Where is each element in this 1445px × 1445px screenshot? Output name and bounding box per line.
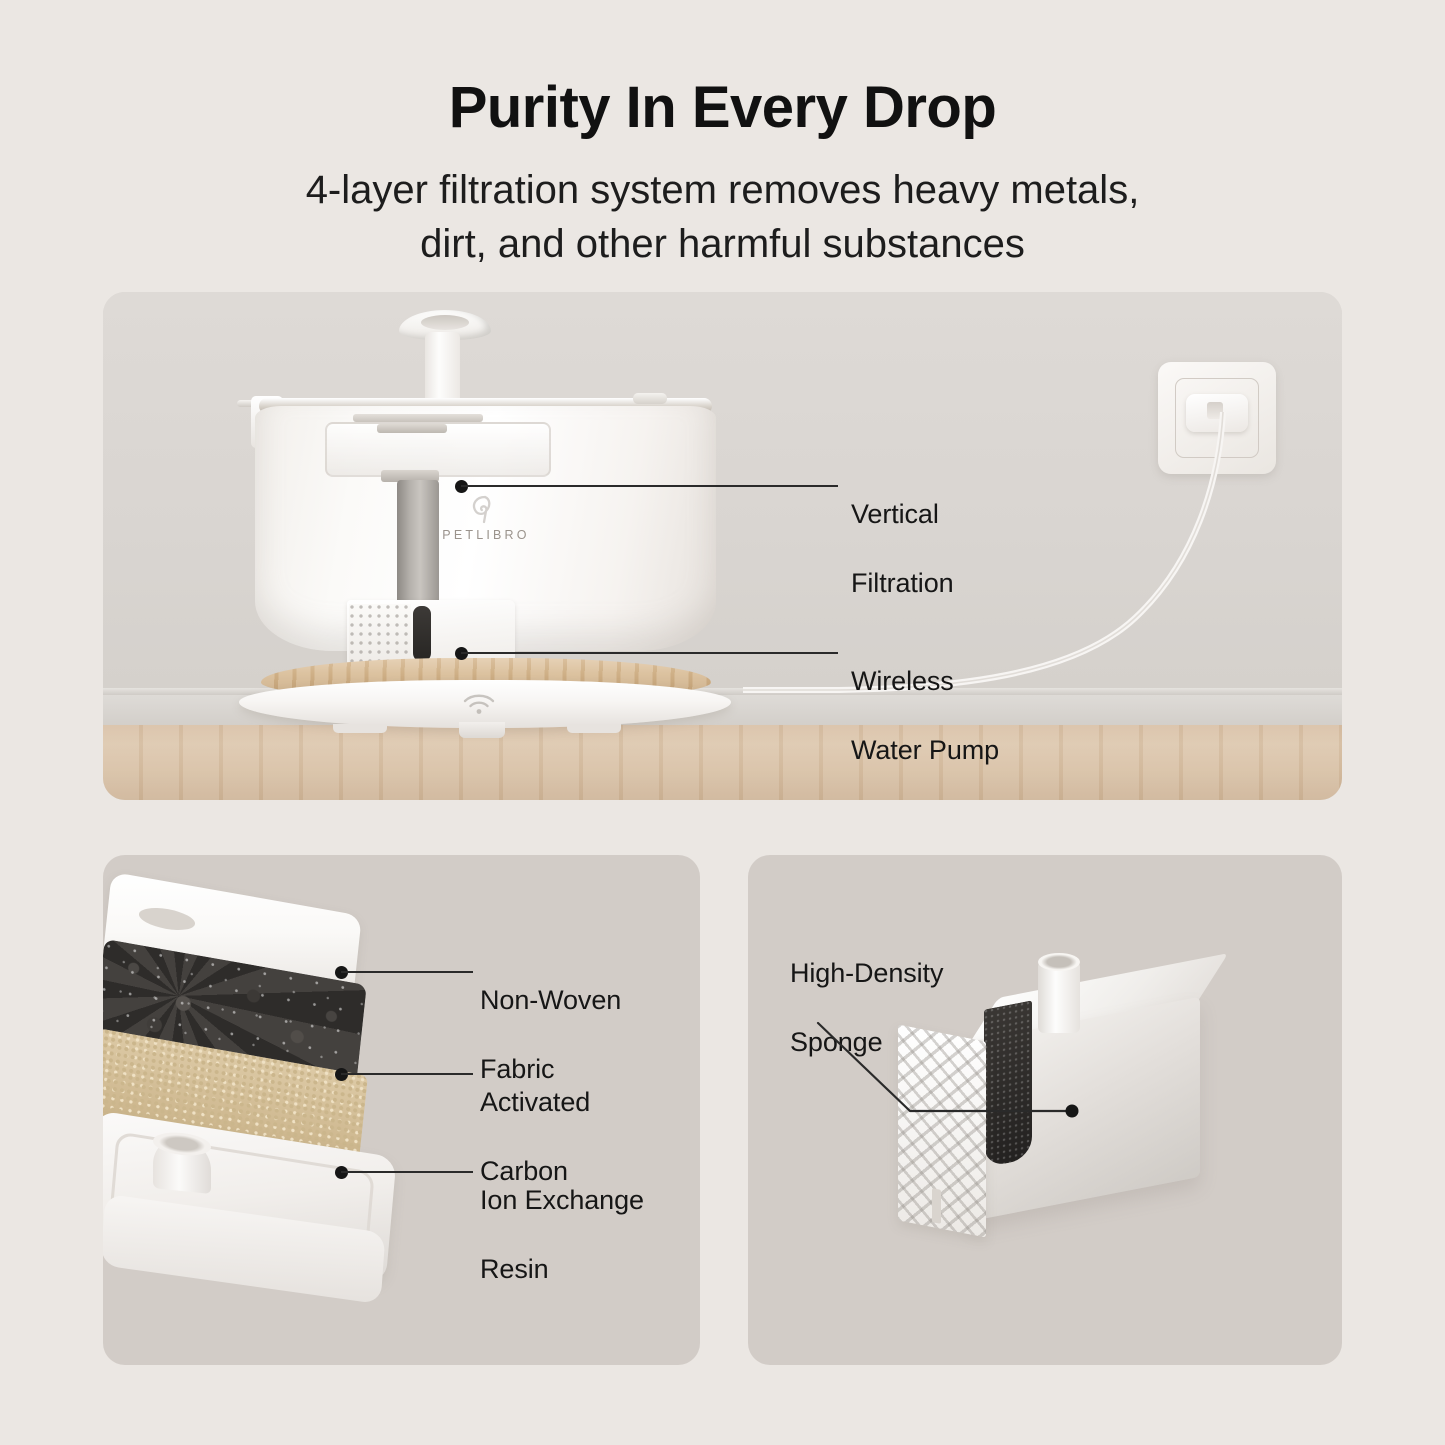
power-cord (743, 412, 1283, 742)
callout-vertical-filtration: Vertical Filtration (851, 462, 954, 635)
pump-nozzle-opening (1038, 953, 1080, 971)
pump-riser-tube (397, 480, 439, 612)
exploded-filter-diagram (103, 883, 445, 1353)
callout-line-1: Non-Woven (480, 983, 621, 1018)
leader-high-density-sponge (788, 1015, 1128, 1155)
pump-grille (349, 604, 411, 666)
base-stem (459, 722, 505, 738)
callout-line-2: Filtration (851, 566, 954, 601)
subtitle-line-2: dirt, and other harmful substances (0, 217, 1445, 271)
sponge-pump-panel: High-Density Sponge (748, 855, 1342, 1365)
header: Purity In Every Drop 4-layer filtration … (0, 0, 1445, 271)
leader-line (341, 1073, 473, 1075)
wifi-icon (462, 694, 496, 716)
brand-name: PETLIBRO (425, 528, 547, 542)
filter-bar-mid (377, 424, 447, 433)
callout-line-1: Vertical (851, 497, 954, 532)
spout-neck (425, 332, 460, 404)
base-foot-right (567, 724, 621, 733)
callout-wireless-water-pump: Wireless Water Pump (851, 629, 999, 800)
callout-line-2: Water Pump (851, 733, 999, 768)
spout-opening (421, 315, 469, 330)
tank-clip (633, 393, 667, 404)
leader-line (461, 652, 838, 654)
subtitle-line-1: 4-layer filtration system removes heavy … (0, 163, 1445, 217)
page-subtitle: 4-layer filtration system removes heavy … (0, 163, 1445, 271)
petlibro-drop-logo-icon (465, 494, 499, 526)
callout-line-2: Resin (480, 1252, 644, 1287)
callout-line-1: High-Density (790, 956, 943, 991)
pump-sponge-insert (413, 606, 431, 662)
pump-grille-slot (932, 1188, 941, 1224)
page-title: Purity In Every Drop (0, 78, 1445, 139)
pet-water-fountain: PETLIBRO (237, 310, 732, 740)
callout-ion-exchange-resin: Ion Exchange Resin (480, 1148, 644, 1321)
leader-line (341, 1171, 473, 1173)
callout-line-1: Activated (480, 1085, 590, 1120)
filter-layers-panel: Non-Woven Fabric Activated Carbon Ion Ex… (103, 855, 700, 1365)
leader-line (461, 485, 838, 487)
callout-line-1: Wireless (851, 664, 999, 699)
base-foot-left (333, 724, 387, 733)
water-fountain-panel: PETLIBRO Vertical Filtration Wireless Wa… (103, 292, 1342, 800)
callout-line-1: Ion Exchange (480, 1183, 644, 1218)
leader-line (341, 971, 473, 973)
filter-bar-top (353, 414, 483, 422)
